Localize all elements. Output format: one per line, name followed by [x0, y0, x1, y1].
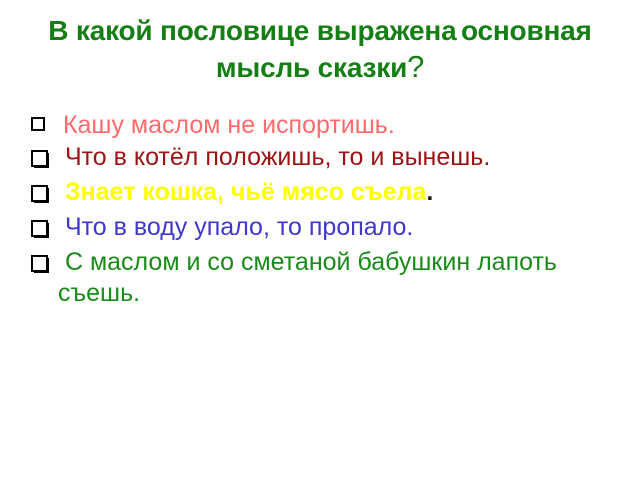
list-item-label: Что в котёл положишь, то и вынешь.	[54, 142, 622, 174]
list-item-label: Знает кошка, чьё мясо съела.	[54, 177, 622, 209]
hollow-square-bullet-icon	[28, 115, 52, 139]
list-item[interactable]: Что в котёл положишь, то и вынешь.	[28, 142, 622, 176]
page-title-question-mark: ?	[407, 49, 424, 84]
list-item-label: С маслом и со сметаной бабушкин лапоть с…	[54, 247, 622, 310]
slide-canvas: В какой пословице выражена основная мысл…	[0, 0, 640, 480]
hollow-square-bullet-icon	[28, 218, 54, 246]
hollow-square-bullet-icon	[28, 253, 54, 281]
list-item[interactable]: Кашу маслом не испортишь.	[28, 110, 622, 142]
list-item-label: Кашу маслом не испортишь.	[52, 110, 622, 142]
list-item[interactable]: С маслом и со сметаной бабушкин лапоть с…	[28, 247, 622, 310]
hollow-square-bullet-icon	[28, 148, 54, 176]
page-title: В какой пословице выражена основная мысл…	[30, 14, 610, 86]
list-item[interactable]: Что в воду упало, то пропало.	[28, 212, 622, 246]
list-item[interactable]: Знает кошка, чьё мясо съела.	[28, 177, 622, 211]
hollow-square-bullet-icon	[28, 183, 54, 211]
list-item-label: Что в воду упало, то пропало.	[54, 212, 622, 244]
page-title-line-1: В какой пословице выражена	[48, 15, 456, 46]
list-item-label-text: Знает кошка, чьё мясо съела	[58, 178, 426, 206]
list-item-trailing-period: .	[426, 178, 433, 206]
answer-options-list: Кашу маслом не испортишь. Что в котёл по…	[28, 110, 622, 310]
